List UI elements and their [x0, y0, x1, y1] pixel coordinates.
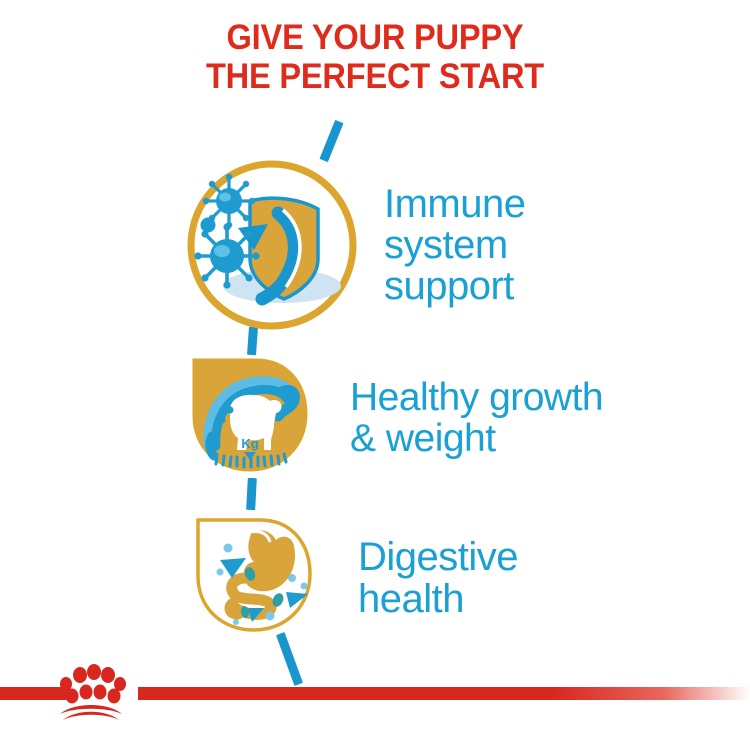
feature-immune: Immune system support — [182, 155, 526, 340]
virus-dot — [201, 218, 216, 233]
shield-virus-icon — [182, 155, 362, 340]
stomach-intestine-icon — [190, 512, 318, 645]
virus-bottom — [194, 223, 259, 288]
feature-digestive: Digestive health — [190, 512, 518, 645]
feature-growth-label: Healthy growth & weight — [350, 378, 603, 458]
headline-line-1: GIVE YOUR PUPPY — [26, 18, 724, 57]
feature-growth: Kg Healthy growth — [186, 352, 603, 485]
headline-line-2: THE PERFECT START — [26, 57, 724, 96]
royal-canin-crown-logo — [52, 662, 130, 722]
infographic-page: GIVE YOUR PUPPY THE PERFECT START — [0, 0, 750, 750]
kg-label: Kg — [241, 436, 258, 451]
feature-immune-label: Immune system support — [384, 184, 526, 308]
dog-scale-icon: Kg — [186, 352, 314, 485]
feature-digestive-label: Digestive health — [358, 537, 518, 619]
brand-bar — [0, 660, 750, 750]
page-title: GIVE YOUR PUPPY THE PERFECT START — [26, 18, 724, 96]
brand-bar-right-segment — [138, 687, 750, 700]
